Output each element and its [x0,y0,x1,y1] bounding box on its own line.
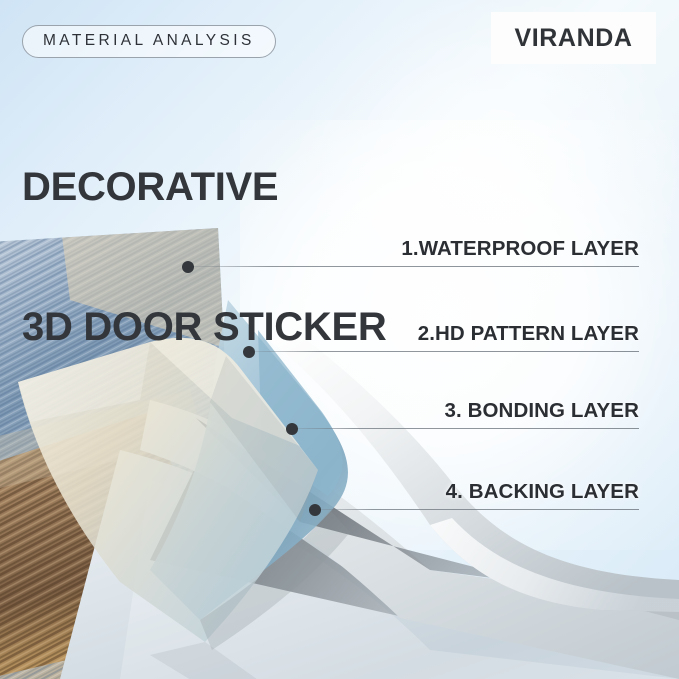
callout-dot [309,504,321,516]
page-title-line-2: 3D DOOR STICKER [22,304,386,351]
callout-leader-line [188,266,639,267]
brand-logo-text: VIRANDA [514,24,632,53]
page-title: DECORATIVE 3D DOOR STICKER [22,70,386,444]
callout-label: 1.WATERPROOF LAYER [401,237,639,261]
callout-label: 2.HD PATTERN LAYER [418,322,639,346]
material-analysis-infographic: MATERIAL ANALYSIS DECORATIVE 3D DOOR STI… [0,0,679,679]
callout-label: 4. BACKING LAYER [446,480,639,504]
callout-leader-line [292,428,639,429]
callout-leader-line [315,509,639,510]
material-analysis-badge: MATERIAL ANALYSIS [22,25,276,58]
callout-leader-line [249,351,639,352]
callout-dot [286,423,298,435]
callout-dot [182,261,194,273]
callout-dot [243,346,255,358]
callout-label: 3. BONDING LAYER [445,399,640,423]
brand-logo-plate: VIRANDA [491,12,656,64]
page-title-line-1: DECORATIVE [22,164,386,211]
